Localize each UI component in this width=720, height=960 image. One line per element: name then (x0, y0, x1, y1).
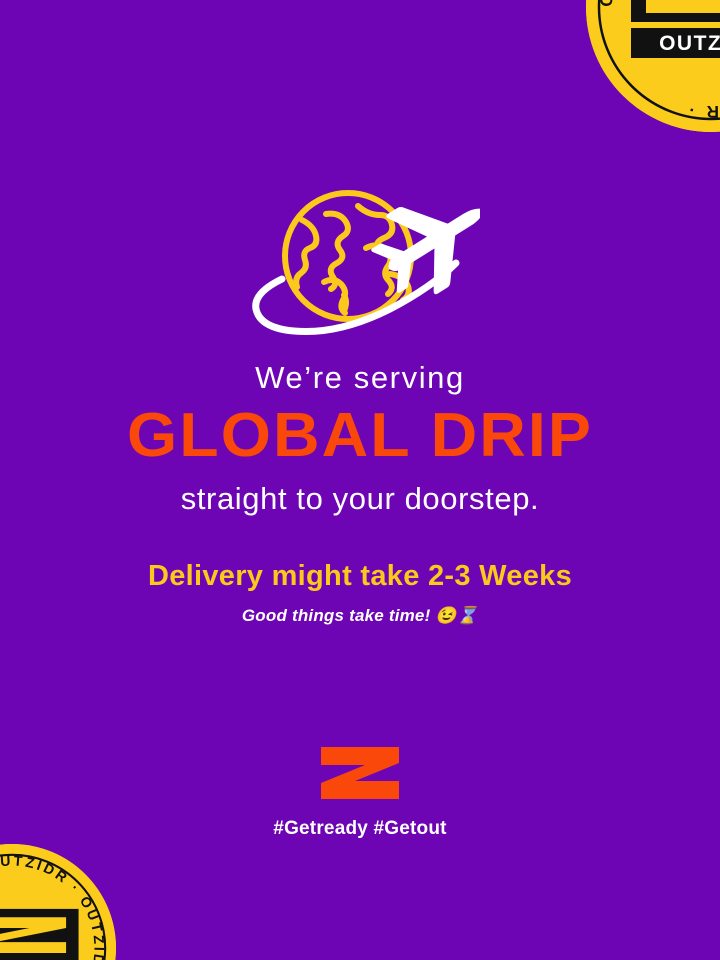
stamp-badge-icon: OUTZIDR · OUTZIDR · OUTZIDR · OUTZIDR · … (586, 0, 720, 132)
stamp-center-word: OUTZIDR (659, 32, 720, 55)
globe-airplane-illustration (240, 178, 480, 338)
reassurance-text: Good things take time! 😉⌛ (0, 607, 720, 624)
stamp-center-mark: OUTZIDR (0, 909, 79, 960)
delivery-estimate-text: Delivery might take 2-3 Weeks (0, 562, 720, 591)
promo-poster: OUTZIDR · OUTZIDR · OUTZIDR · OUTZIDR · … (0, 0, 720, 960)
outzidr-z-logo-icon (319, 745, 401, 801)
hashtags-text: #Getready #Getout (0, 819, 720, 838)
stamp-center-mark: OUTZIDR (631, 0, 720, 58)
poster-copy-block: We’re serving GLOBAL DRIP straight to yo… (0, 362, 720, 624)
page-title: GLOBAL DRIP (0, 405, 720, 467)
globe-with-airplane-icon (240, 178, 480, 338)
orbit-swoosh-tail-icon (256, 279, 282, 309)
subhead-text: straight to your doorstep. (0, 483, 720, 514)
outzidr-stamp-badge-top-right: OUTZIDR · OUTZIDR · OUTZIDR · OUTZIDR · … (586, 0, 720, 132)
outzidr-stamp-badge-bottom-left: OUTZIDR · OUTZIDR · OUTZIDR · OUTZIDR · … (0, 844, 116, 960)
footer-brand-block: #Getready #Getout (0, 745, 720, 838)
stamp-badge-icon: OUTZIDR · OUTZIDR · OUTZIDR · OUTZIDR · … (0, 844, 116, 960)
eyebrow-text: We’re serving (0, 362, 720, 393)
